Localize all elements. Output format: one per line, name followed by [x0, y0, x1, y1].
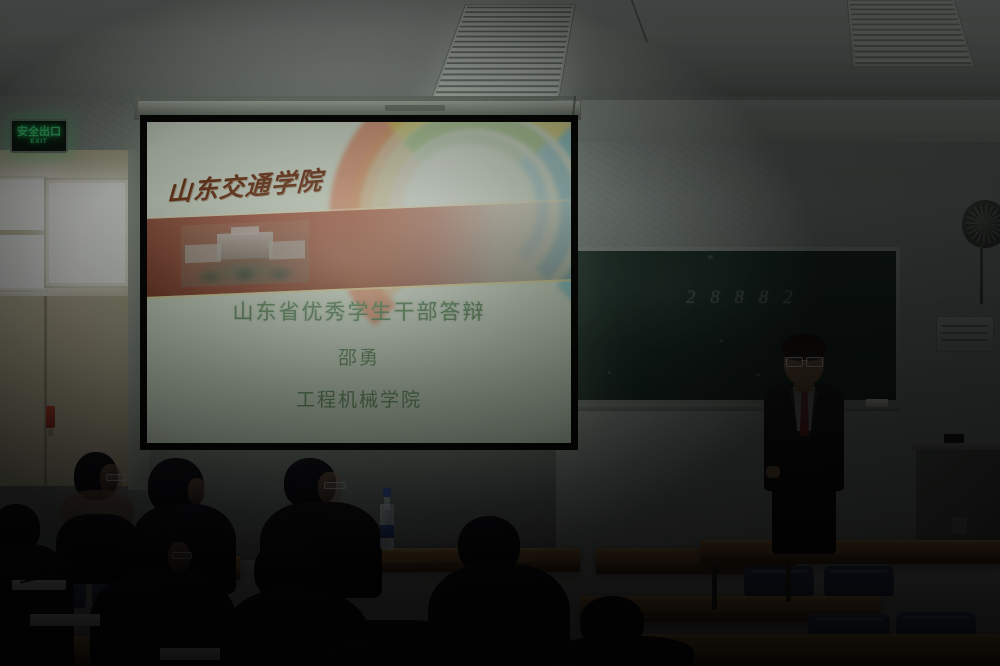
- fan-cage: [966, 204, 1000, 244]
- audience-body: [0, 544, 74, 666]
- exit-sign-english-label: EXIT: [30, 138, 47, 146]
- fan-mount-arm: [980, 244, 983, 304]
- exit-sign: 安全出口 EXIT: [10, 119, 68, 153]
- slide-department: 工程机械学院: [147, 388, 571, 414]
- chalk-mark: [708, 255, 713, 259]
- slide-red-band: [147, 201, 571, 297]
- desk-leg: [712, 566, 717, 610]
- slide-title: 山东省优秀学生干部答辩: [147, 298, 571, 328]
- bottle-neck: [384, 496, 390, 510]
- classroom-photo: 安全出口 EXIT 2 8 8 8 2: [0, 0, 1000, 666]
- audience-glasses-icon: [106, 474, 126, 481]
- audience-member-8: [560, 596, 680, 666]
- chalk-mark: [720, 339, 723, 342]
- bottle-cap: [383, 488, 391, 497]
- door-jamb: [44, 296, 47, 486]
- university-logo: 山东交通学院: [166, 161, 323, 209]
- building-part: [185, 244, 221, 264]
- bottle-label: [380, 525, 394, 538]
- building-part: [217, 232, 273, 260]
- water-bottle: [380, 488, 394, 550]
- audience-body: [318, 620, 468, 666]
- presenter-hand: [766, 466, 780, 478]
- seat: [824, 566, 894, 596]
- audience-member-9: [318, 620, 468, 666]
- campus-building-photo: [181, 220, 309, 287]
- desk-leg: [786, 562, 791, 602]
- window-frame-right: [44, 178, 130, 288]
- standing-presenter: [756, 338, 852, 552]
- chalk-mark: [608, 371, 611, 374]
- paper-sheet: [160, 648, 220, 660]
- audience-body: [554, 636, 694, 666]
- audience-face: [188, 478, 206, 504]
- slide-presenter-name: 邵勇: [147, 346, 571, 372]
- wall-plaque: [936, 316, 994, 352]
- window-frame-left: [0, 176, 48, 292]
- window-glass: [49, 183, 125, 283]
- wall-upper-band: [556, 100, 1000, 142]
- audience-glasses-icon: [172, 552, 192, 559]
- building-part: [269, 240, 305, 260]
- presentation-slide: 山东交通学院 山东省优秀学生干部答辩 邵勇 工程机械学院: [147, 122, 571, 443]
- wall-fan-icon: [962, 200, 1000, 248]
- board-eraser: [866, 399, 888, 407]
- projection-screen: 山东交通学院 山东省优秀学生干部答辩 邵勇 工程机械学院: [140, 115, 578, 450]
- paper-sheet: [30, 614, 100, 626]
- screen-brand-label: [385, 105, 445, 111]
- blackboard-chalk-text: 2 8 8 8 2: [686, 287, 798, 309]
- exit-sign-chinese-label: 安全出口: [17, 127, 61, 138]
- screen-roller-housing: [138, 101, 580, 115]
- presenter-glasses-icon: [786, 357, 823, 365]
- wall-outlet: [950, 516, 968, 535]
- podium-object: [944, 434, 964, 443]
- seat: [744, 566, 814, 596]
- fire-alarm-icon: [46, 406, 55, 428]
- presenter-legs: [772, 484, 836, 554]
- audience-glasses-icon: [324, 482, 346, 489]
- slide-text-block: 山东省优秀学生干部答辩 邵勇 工程机械学院: [147, 298, 571, 414]
- audience-member-4: [100, 522, 220, 666]
- ceiling-light-fixture: [846, 0, 975, 67]
- campus-trees: [187, 262, 303, 285]
- window-mullion: [0, 230, 46, 235]
